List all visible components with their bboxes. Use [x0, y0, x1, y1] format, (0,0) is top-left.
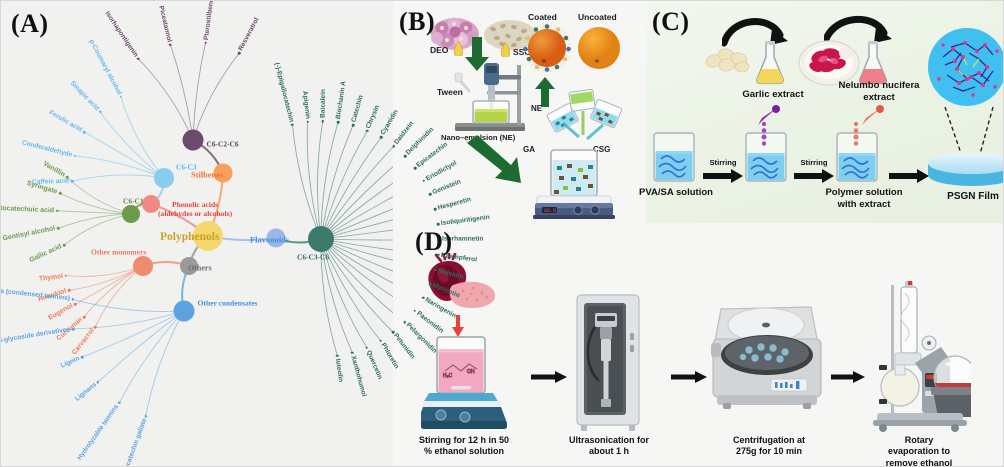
stirring-1-arrow-icon — [703, 169, 743, 183]
polymer-solution-label: Polymer solution with extract — [809, 187, 919, 211]
network-node-label-c6c1: C6-C1 — [123, 197, 144, 206]
ultrasonicator-image — [575, 293, 641, 435]
step-ultrasonication-line1: Ultrasonication for — [559, 435, 659, 446]
step-rotary-line1: Rotary — [863, 435, 975, 446]
network-node-other_monomers[interactable] — [133, 256, 153, 276]
nelumbo-extract-line2: extract — [824, 92, 934, 104]
network-center-label: Polyphenols — [160, 231, 219, 243]
coated-orange-image — [522, 23, 572, 73]
step-rotary-line2: evaporation to — [863, 446, 975, 457]
nelumbo-dropper-icon — [858, 105, 884, 127]
stirring-2-label: Stirring — [793, 158, 835, 167]
tilted-beakers-image — [519, 89, 637, 149]
step-centrifugation-caption: Centrifugation at 275g for 10 min — [709, 435, 829, 458]
deo-label: DEO — [430, 45, 448, 55]
panel-d-tag: (D) — [415, 227, 453, 257]
pva-sa-beaker-image — [648, 131, 700, 185]
rotary-evaporator-image — [867, 281, 971, 433]
network-node-c6c2c6[interactable] — [183, 130, 204, 151]
nelumbo-extract-line1: Nelumbo nucifera — [824, 80, 934, 92]
panel-b-tag: (B) — [399, 7, 435, 37]
step-lyophilization-caption: Lyophilization — [997, 435, 1004, 446]
polymer-solution-line1: Polymer solution — [809, 187, 919, 199]
coated-label: Coated — [528, 12, 557, 22]
step1-to-step2-arrow-icon — [531, 371, 567, 383]
network-category-label-flavonoids: Flavonoids — [250, 236, 289, 245]
nano-emulsion-transfer-arrow-icon — [465, 135, 523, 185]
nelumbo-droplets-icon — [851, 121, 861, 147]
step-stirring-caption: Stirring for 12 h in 50 % ethanol soluti… — [401, 435, 527, 458]
stirring-beaker-image: 88.8 — [533, 146, 619, 220]
uncoated-orange-image — [576, 25, 622, 71]
psgn-film-label: PSGN Film — [927, 191, 1004, 204]
garlic-extract-label: Garlic extract — [724, 89, 822, 101]
uncoated-label: Uncoated — [578, 12, 617, 22]
step2-to-step3-arrow-icon — [671, 371, 707, 383]
phenolic-acids-line2: (aldehydes or alcohols) — [158, 209, 232, 218]
sso-oil-drop-icon — [501, 42, 510, 57]
polymer-network-magnifier-image — [927, 27, 1004, 107]
tween-label: Tween — [437, 87, 463, 97]
stirring-2-arrow-icon — [794, 169, 834, 183]
network-node-label-c6c3c6: C6-C3-C6 — [297, 253, 329, 262]
step-ultrasonication-line2: about 1 h — [559, 446, 659, 457]
panel-c-tag: (C) — [652, 7, 690, 37]
svg-text:H₃C: H₃C — [443, 373, 453, 379]
network-node-label-c6c2c6: C6-C2-C6 — [207, 140, 239, 149]
stirring-1-label: Stirring — [702, 158, 744, 167]
psgn-film-disc-image — [926, 153, 1004, 189]
deo-oil-drop-icon — [454, 41, 463, 56]
step-stirring-line2: % ethanol solution — [401, 446, 527, 457]
svg-text:OH: OH — [467, 369, 475, 375]
pva-sa-label: PVA/SA solution — [638, 187, 714, 199]
network-node-label-other_monomers: Other monomers — [91, 248, 146, 257]
network-node-other_condensates[interactable] — [174, 301, 195, 322]
phenolic-acids-line1: Phenolic acids — [158, 200, 232, 209]
lyophilizer-image — [997, 285, 1004, 433]
network-category-label-phenolic_acids: Phenolic acids(aldehydes or alcohols) — [158, 200, 232, 218]
network-node-label-other_condensates: Other condensates — [198, 299, 258, 308]
polyphenol-network: VanillinSyringateProtocatechuic acidGent… — [1, 1, 393, 467]
polymer-solution-line2: with extract — [809, 199, 919, 211]
network-node-c6c1[interactable] — [122, 205, 140, 223]
network-node-c6c3c6[interactable] — [308, 226, 334, 252]
panel-a-tag: (A) — [11, 9, 49, 39]
film-casting-arrow-icon — [889, 169, 929, 183]
nelumbo-extract-flask-image — [856, 41, 890, 85]
step-centrifugation-line2: 275g for 10 min — [709, 446, 829, 457]
step-lyophilization-line1: Lyophilization — [997, 435, 1004, 446]
panel-d: (D) H₃C OH — [393, 223, 1004, 467]
network-category-label-others: Others — [188, 264, 212, 273]
panel-a: (A) VanillinSyringateProtocatechuic acid… — [1, 1, 393, 467]
panel-c: (C) Garlic extract — [646, 1, 1004, 223]
svg-text:88.8: 88.8 — [544, 208, 556, 214]
step-rotary-caption: Rotary evaporation to remove ethanol — [863, 435, 975, 467]
step-ultrasonication-caption: Ultrasonication for about 1 h — [559, 435, 659, 458]
garlic-extract-flask-image — [753, 41, 787, 85]
nelumbo-extract-label: Nelumbo nucifera extract — [824, 80, 934, 104]
step-centrifugation-line1: Centrifugation at — [709, 435, 829, 446]
network-category-label-stilbenes: Stilbenes — [191, 171, 223, 180]
garlic-cloves-image — [705, 46, 751, 72]
network-leaf-label: Baicalein — [319, 89, 326, 121]
step-stirring-line1: Stirring for 12 h in 50 — [401, 435, 527, 446]
step3-to-step4-arrow-icon — [831, 371, 865, 383]
network-node-c6c3[interactable] — [154, 168, 174, 188]
garlic-droplets-icon — [759, 121, 769, 147]
step-rotary-line3: remove ethanol — [863, 458, 975, 467]
figure-root: (A) VanillinSyringateProtocatechuic acid… — [0, 0, 1004, 467]
centrifuge-image — [711, 301, 825, 433]
